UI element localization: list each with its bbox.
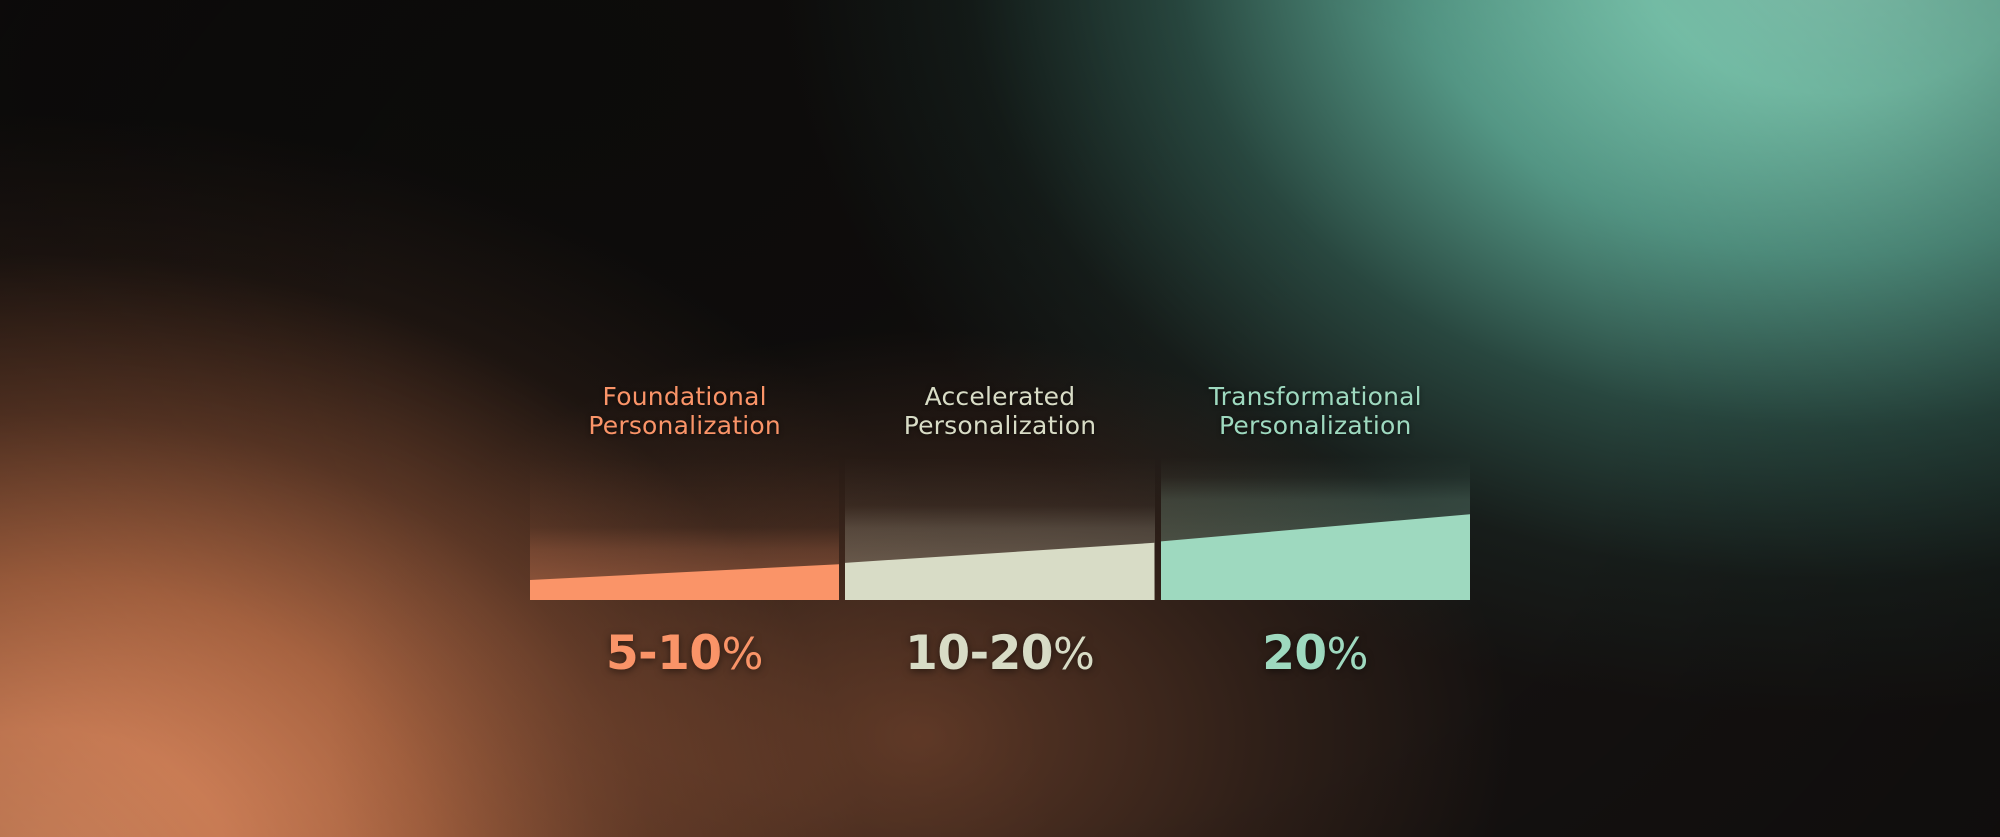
value-unit: % — [1327, 629, 1369, 680]
value-number: 10-20 — [905, 626, 1053, 681]
value-foundational: 5-10% — [606, 626, 763, 681]
column-body-transformational — [1161, 457, 1470, 600]
value-number: 5-10 — [606, 626, 722, 681]
value-number: 20 — [1262, 626, 1326, 681]
value-label-row: 5-10% 10-20% 20% — [530, 618, 1470, 688]
column-label-line1: Foundational — [512, 382, 857, 411]
column-label-line2: Personalization — [512, 411, 857, 440]
column-fill-accelerated — [845, 457, 1154, 600]
value-cell-transformational: 20% — [1161, 618, 1470, 688]
column-fill-transformational — [1161, 457, 1470, 600]
column-body-accelerated — [845, 457, 1154, 600]
column-label-line2: Personalization — [827, 411, 1172, 440]
value-unit: % — [1053, 629, 1095, 680]
value-cell-foundational: 5-10% — [530, 618, 839, 688]
column-label-line1: Transformational — [1143, 382, 1488, 411]
maturity-bar-chart: Foundational Personalization Accelerated… — [530, 382, 1470, 600]
column-label-line2: Personalization — [1143, 411, 1488, 440]
value-transformational: 20% — [1262, 626, 1368, 681]
column-fill-foundational — [530, 457, 839, 600]
column-label-transformational: Transformational Personalization — [1143, 382, 1488, 440]
column-label-accelerated: Accelerated Personalization — [827, 382, 1172, 440]
value-cell-accelerated: 10-20% — [845, 618, 1154, 688]
chart-column-foundational: Foundational Personalization — [530, 382, 839, 600]
column-body-foundational — [530, 457, 839, 600]
value-unit: % — [722, 629, 764, 680]
column-label-foundational: Foundational Personalization — [512, 382, 857, 440]
chart-column-accelerated: Accelerated Personalization — [845, 382, 1154, 600]
column-label-line1: Accelerated — [827, 382, 1172, 411]
value-accelerated: 10-20% — [905, 626, 1095, 681]
chart-column-transformational: Transformational Personalization — [1161, 382, 1470, 600]
slide-canvas: Foundational Personalization Accelerated… — [0, 0, 2000, 837]
